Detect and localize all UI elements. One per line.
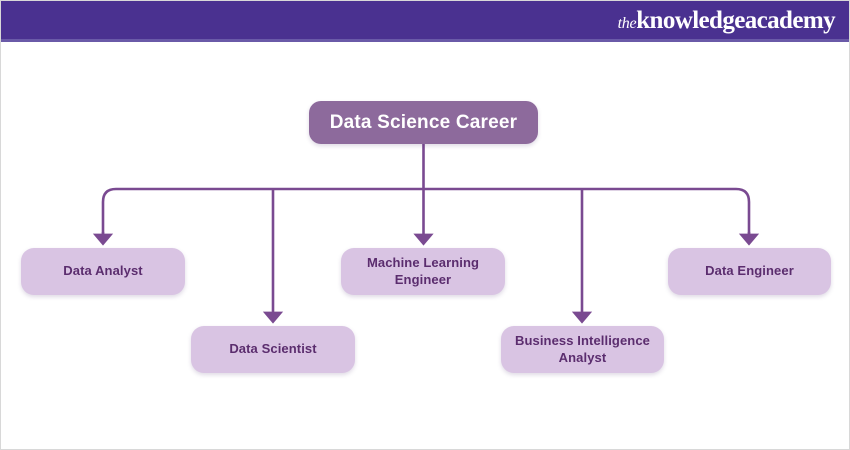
node-data-scientist-label: Data Scientist <box>229 341 316 357</box>
node-data-science-career[interactable]: Data Science Career <box>309 101 538 144</box>
brand-logo: theknowledgeacademy <box>618 8 835 33</box>
connector-bus-right <box>424 189 750 240</box>
diagram-page: theknowledgeacademy <box>0 0 850 450</box>
node-data-analyst-label: Data Analyst <box>63 263 142 279</box>
brand-academy-text: academy <box>745 8 835 33</box>
node-data-engineer[interactable]: Data Engineer <box>668 248 831 295</box>
node-business-intelligence-analyst-label: Business Intelligence Analyst <box>515 333 650 366</box>
header-band: theknowledgeacademy <box>1 1 850 39</box>
brand-the-text: the <box>618 16 637 32</box>
connector-bus-left <box>103 189 424 240</box>
node-root-label: Data Science Career <box>330 111 518 135</box>
node-machine-learning-engineer[interactable]: Machine Learning Engineer <box>341 248 505 295</box>
career-tree-diagram: Data Science Career Data Analyst Data Sc… <box>1 42 850 450</box>
brand-knowledge-text: knowledge <box>636 8 745 33</box>
node-data-scientist[interactable]: Data Scientist <box>191 326 355 373</box>
node-machine-learning-engineer-label: Machine Learning Engineer <box>367 255 479 288</box>
node-data-analyst[interactable]: Data Analyst <box>21 248 185 295</box>
node-business-intelligence-analyst[interactable]: Business Intelligence Analyst <box>501 326 664 373</box>
node-data-engineer-label: Data Engineer <box>705 263 794 279</box>
